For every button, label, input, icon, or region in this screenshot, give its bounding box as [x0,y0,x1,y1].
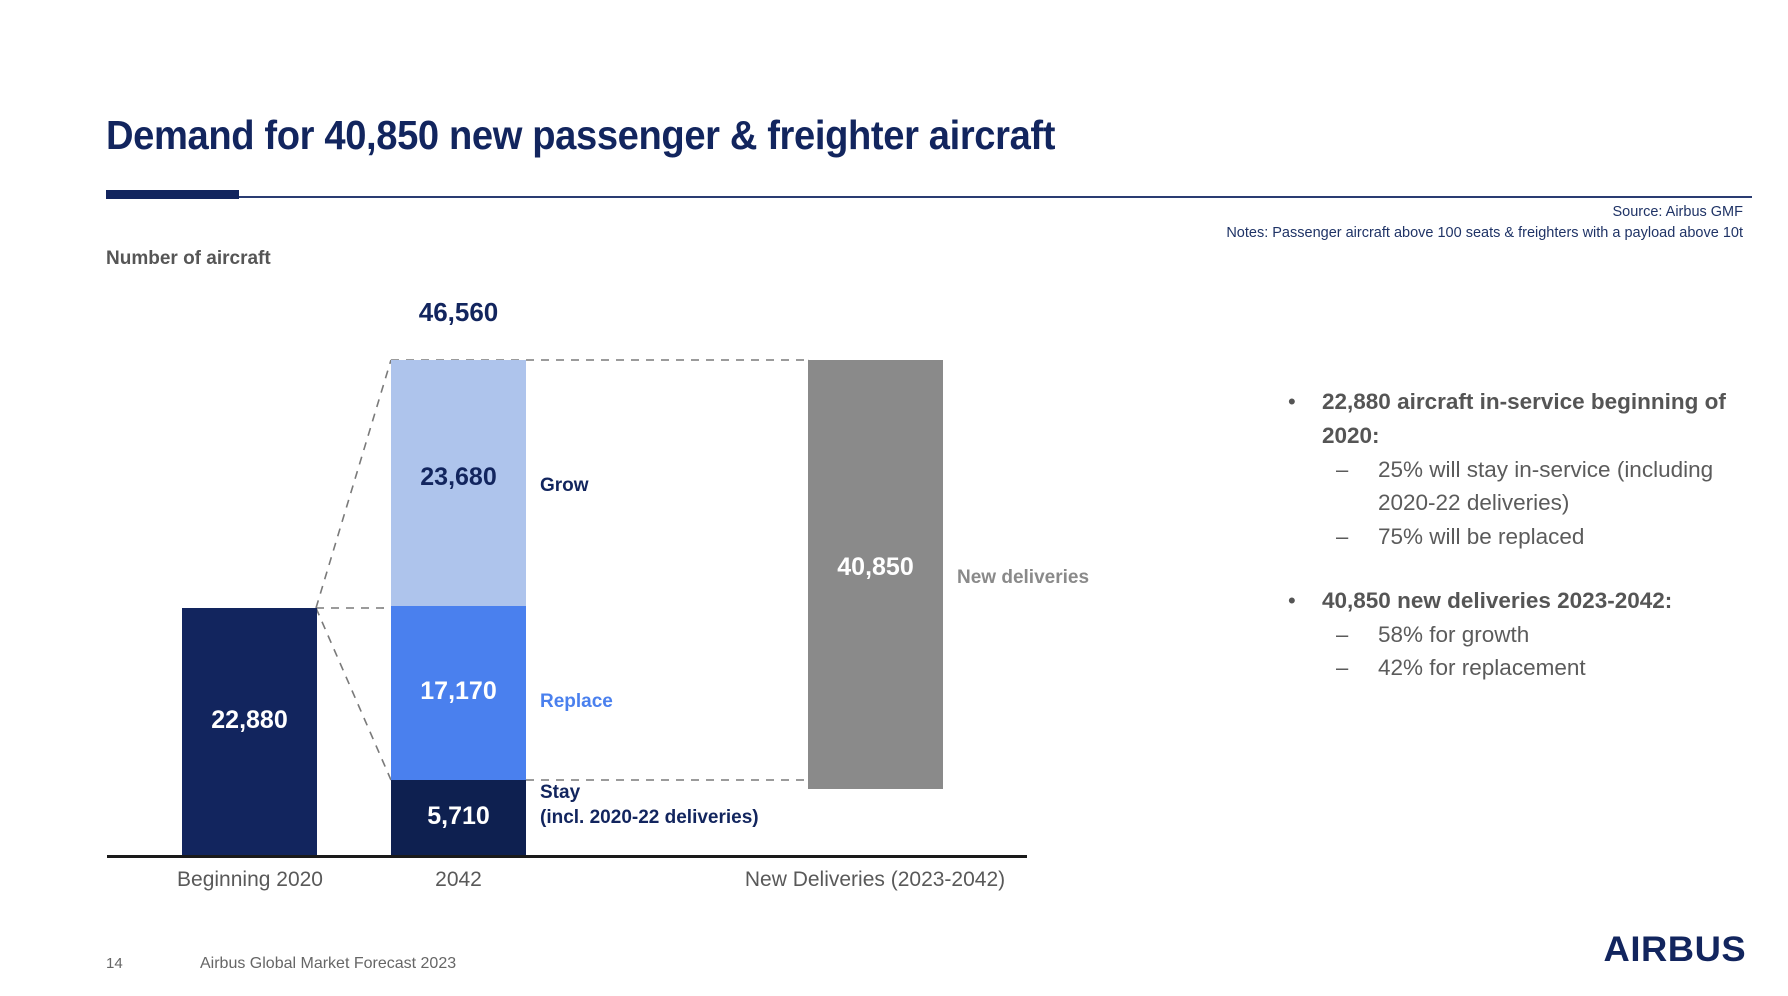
bullet-sub-item: – 42% for replacement [1288,651,1758,685]
bar-beginning-2020[interactable]: 22,880 [182,608,317,855]
bullet-marker: • [1288,385,1322,418]
segment-label-replace: Replace [540,689,613,714]
bullet-sub-item: – 25% will stay in-service (including 20… [1288,453,1758,521]
bar-value-beginning-2020: 22,880 [182,708,317,733]
bullet-group-1: • 22,880 aircraft in-service beginning o… [1288,385,1758,554]
sub-bullet-marker: – [1336,651,1378,684]
bullet-item-2: • 40,850 new deliveries 2023-2042: [1288,584,1758,618]
airbus-logo: AIRBUS [1603,930,1746,970]
source-notes-block: Source: Airbus GMF Notes: Passenger airc… [1226,202,1743,243]
x-tick-new-deliveries: New Deliveries (2023-2042) [730,868,1020,892]
connector-diagonal-top [316,360,391,608]
bullet-sub-item: – 58% for growth [1288,618,1758,652]
bullet-group-2: • 40,850 new deliveries 2023-2042: – 58%… [1288,584,1758,685]
bullet-sub-item: – 75% will be replaced [1288,520,1758,554]
bullet-marker: • [1288,584,1322,617]
sub-bullet-text: 25% will stay in-service (including 2020… [1378,453,1758,521]
bar-value-stay: 5,710 [391,804,526,829]
segment-label-stay: Stay (incl. 2020-22 deliveries) [540,780,759,830]
sub-bullet-text: 58% for growth [1378,618,1529,652]
notes-line: Notes: Passenger aircraft above 100 seat… [1226,223,1743,244]
segment-label-grow: Grow [540,473,589,498]
x-tick-beginning-2020: Beginning 2020 [140,868,360,892]
segment-label-stay-line1: Stay [540,780,759,805]
sub-bullet-marker: – [1336,520,1378,553]
sub-bullet-marker: – [1336,453,1378,486]
bar-chart: 22,880 46,560 23,680 Grow 17,170 Replace… [0,0,1100,920]
bar-2042-segment-stay[interactable]: 5,710 [391,780,526,855]
sub-bullet-text: 42% for replacement [1378,651,1586,685]
bar-2042-segment-grow[interactable]: 23,680 [391,360,526,606]
segment-label-new-deliveries: New deliveries [957,565,1089,590]
footer-deck-title: Airbus Global Market Forecast 2023 [200,955,456,973]
sub-bullet-text: 75% will be replaced [1378,520,1584,554]
connector-diagonal-bottom [316,608,391,780]
stack-total-label: 46,560 [391,297,526,328]
bar-value-replace: 17,170 [391,679,526,704]
page-number: 14 [106,955,123,972]
sub-bullet-marker: – [1336,618,1378,651]
bar-new-deliveries[interactable]: 40,850 [808,360,943,789]
bar-2042-segment-replace[interactable]: 17,170 [391,606,526,780]
slide-root: Demand for 40,850 new passenger & freigh… [0,0,1788,996]
bar-value-grow: 23,680 [391,465,526,490]
bullet-item-1: • 22,880 aircraft in-service beginning o… [1288,385,1758,453]
segment-label-stay-line2: (incl. 2020-22 deliveries) [540,805,759,830]
bullet-text: 40,850 new deliveries 2023-2042: [1322,584,1672,618]
x-axis-baseline [107,855,1027,858]
bullet-panel: • 22,880 aircraft in-service beginning o… [1288,385,1758,715]
bar-value-new-deliveries: 40,850 [808,555,943,580]
x-tick-2042: 2042 [391,868,526,892]
bullet-text: 22,880 aircraft in-service beginning of … [1322,385,1758,453]
source-line: Source: Airbus GMF [1226,202,1743,223]
